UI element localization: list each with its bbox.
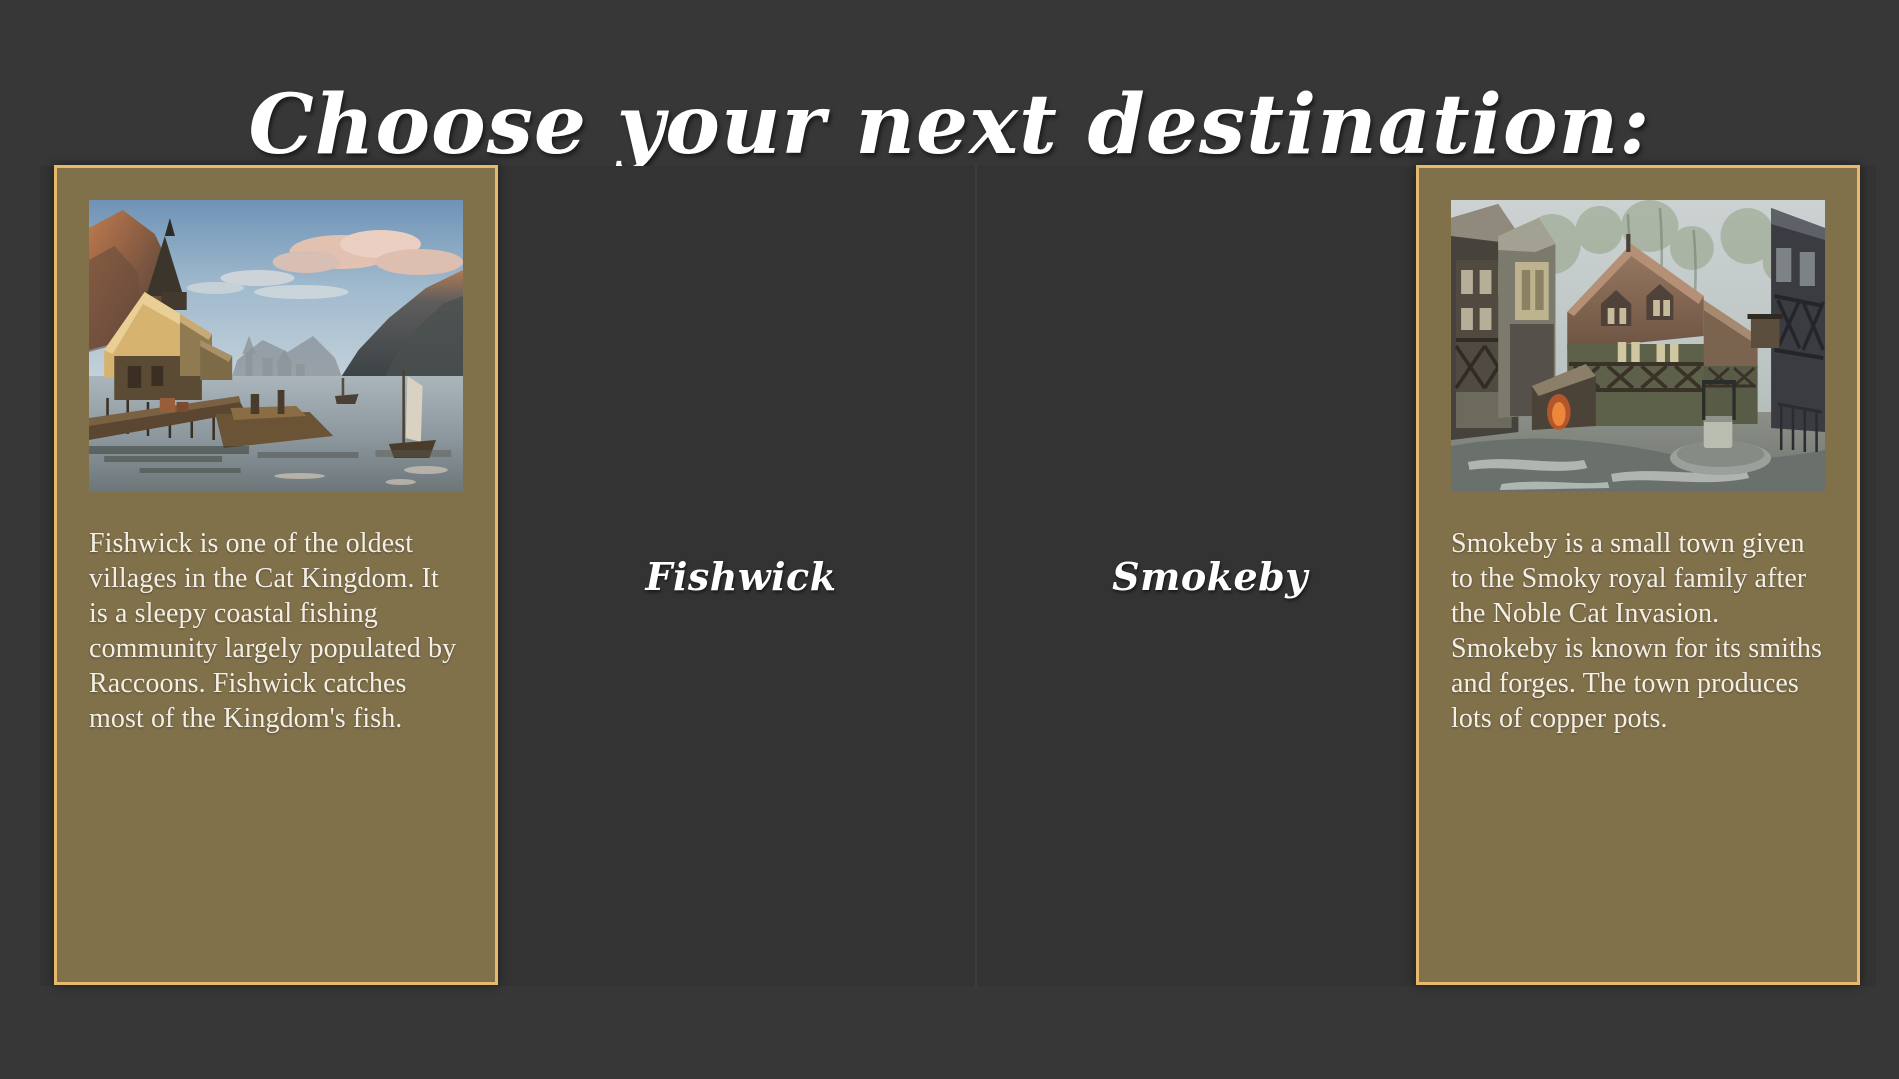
fishwick-harbour-illustration [89, 200, 463, 492]
smokeby-card-column: Smokeby is a small town given to the Smo… [1443, 166, 1874, 986]
destination-description: Fishwick is one of the oldest villages i… [89, 526, 463, 736]
destination-card-smokeby: Smokeby is a small town given to the Smo… [1416, 165, 1860, 985]
smokeby-town-illustration [1451, 200, 1825, 492]
choice-button-smokeby[interactable]: Smokeby [977, 166, 1443, 986]
smokeby-choice-column: Smokeby [975, 166, 1443, 986]
destination-card-fishwick: Fishwick is one of the oldest villages i… [54, 165, 498, 985]
page-title: Choose your next destination: [0, 77, 1899, 173]
destination-choice-panel: Fishwick is one of the oldest villages i… [40, 166, 1876, 986]
destination-description: Smokeby is a small town given to the Smo… [1451, 526, 1825, 736]
fishwick-card-column: Fishwick is one of the oldest villages i… [40, 166, 507, 986]
choice-button-fishwick[interactable]: Fishwick [507, 166, 975, 986]
fishwick-choice-column: Fishwick [507, 166, 975, 986]
